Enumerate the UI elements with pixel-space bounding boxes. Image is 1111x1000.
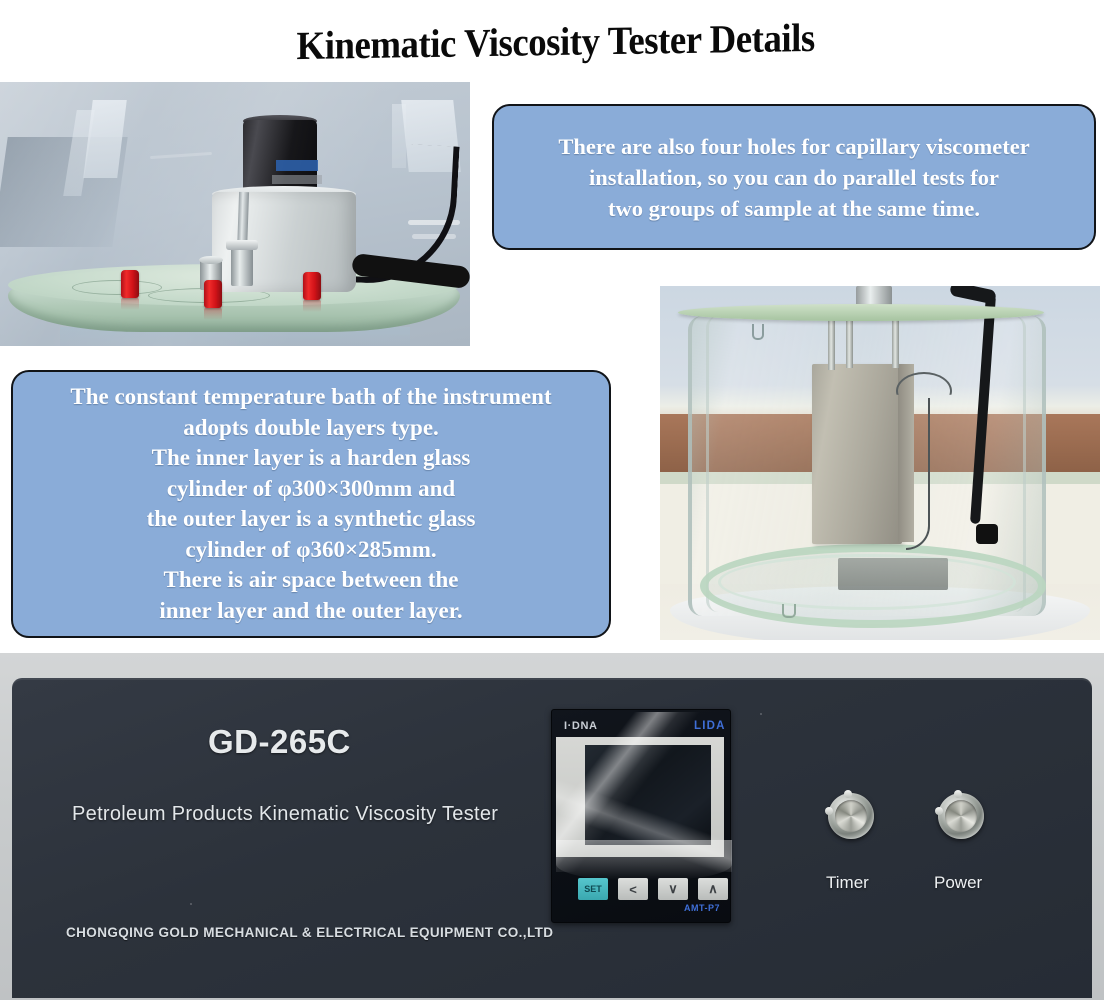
temperature-probe-cap: [226, 240, 258, 250]
temperature-probe: [231, 244, 253, 286]
power-knob-label: Power: [934, 873, 982, 893]
metal-sleeve-top: [199, 256, 223, 264]
callout-line: There is air space between the: [23, 565, 599, 596]
knob-inner-disc: [945, 800, 977, 832]
controller-model-code: AMT-P7: [684, 903, 720, 913]
knob-indicator-nub: [954, 790, 962, 798]
green-glass-top-lid: [678, 304, 1044, 321]
support-rod: [828, 320, 835, 370]
callout-line: inner layer and the outer layer.: [23, 596, 599, 627]
lid-hook: [752, 324, 764, 340]
controller-up-button[interactable]: ∧: [698, 878, 728, 900]
internal-wire: [906, 398, 930, 550]
photo-glass-bath-cylinder: [660, 286, 1100, 640]
plug-reflection: [121, 298, 139, 310]
power-knob[interactable]: [938, 793, 984, 839]
plug-reflection: [303, 300, 321, 312]
controller-brand-left: I·DNA: [564, 720, 598, 732]
page-root: Kinematic Viscosity Tester Details: [0, 0, 1111, 1000]
stainless-heater-plate: [812, 364, 902, 544]
panel-company-name: CHONGQING GOLD MECHANICAL & ELECTRICAL E…: [66, 925, 553, 940]
red-hole-plug: [121, 270, 139, 298]
red-hole-plug: [303, 272, 321, 300]
callout-line: the outer layer is a synthetic glass: [23, 504, 599, 535]
controller-display: [585, 745, 711, 845]
panel-subtitle: Petroleum Products Kinematic Viscosity T…: [72, 803, 498, 826]
callout-line: The inner layer is a harden glass: [23, 443, 599, 474]
lid-hook: [782, 604, 796, 618]
red-hole-plug: [204, 280, 222, 308]
support-rod: [846, 320, 853, 368]
callout-capillary-holes: There are also four holes for capillary …: [492, 104, 1096, 250]
controller-set-button[interactable]: SET: [578, 878, 608, 900]
callout-line: cylinder of φ300×300mm and: [23, 474, 599, 505]
motor-label-silver: [272, 175, 322, 184]
controller-down-button[interactable]: ∨: [658, 878, 688, 900]
callout-line: installation, so you can do parallel tes…: [506, 162, 1082, 193]
knob-inner-disc: [835, 800, 867, 832]
callout-line: The constant temperature bath of the ins…: [23, 382, 599, 413]
knob-indicator-nub: [935, 807, 943, 815]
photo-bath-top-plate: [0, 82, 470, 346]
controller-brand-right: LIDA: [694, 720, 726, 732]
timer-knob-label: Timer: [826, 873, 869, 893]
knob-indicator-nub: [844, 790, 852, 798]
controller-left-button[interactable]: <: [618, 878, 648, 900]
page-title-text: Kinematic Viscosity Tester Details: [296, 14, 814, 69]
page-title: Kinematic Viscosity Tester Details: [0, 9, 1111, 73]
capillary-hole: [72, 280, 162, 295]
submerged-plate: [838, 558, 948, 590]
black-power-cable: [949, 286, 997, 305]
knob-indicator-nub: [825, 807, 833, 815]
timer-knob[interactable]: [828, 793, 874, 839]
callout-line: There are also four holes for capillary …: [506, 131, 1082, 162]
callout-line: two groups of sample at the same time.: [506, 193, 1082, 224]
plug-reflection: [204, 308, 222, 320]
callout-double-layer-bath: The constant temperature bath of the ins…: [11, 370, 611, 638]
support-rod: [892, 320, 899, 368]
cable-connector: [976, 524, 998, 544]
panel-model-number: GD-265C: [208, 723, 351, 761]
callout-line: cylinder of φ360×285mm.: [23, 535, 599, 566]
callout-line: adopts double layers type.: [23, 413, 599, 444]
motor-label-blue: [276, 160, 318, 171]
